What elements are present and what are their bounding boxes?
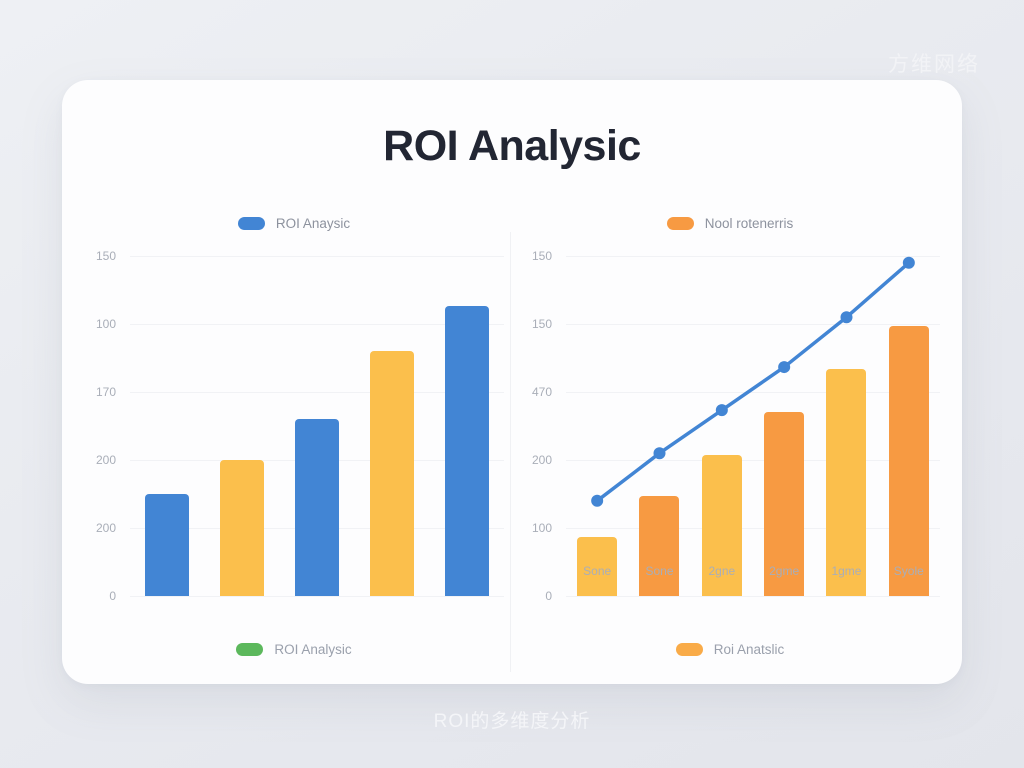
left-legend-bottom-label: ROI Analysic — [274, 642, 351, 657]
trend-marker — [778, 361, 790, 373]
legend-pill-icon — [236, 643, 263, 656]
right-grid-area — [566, 256, 940, 596]
y-axis-tick-label: 200 — [532, 453, 552, 467]
x-axis-tick-label: 1gme — [815, 564, 877, 578]
gridline — [566, 596, 940, 597]
bar — [370, 351, 414, 596]
x-axis-tick-label: 2gme — [753, 564, 815, 578]
right-y-axis: 1501504702001000 — [514, 256, 560, 596]
right-x-axis: SoneSone2gne2gme1gmeSyole — [566, 564, 940, 578]
right-plot-area: 1501504702001000 — [514, 256, 946, 596]
right-legend-top[interactable]: Nool rotenerris — [514, 212, 946, 234]
trend-polyline — [597, 263, 909, 501]
chart-card: ROI Analysic ROI Anaysic 150100170200200… — [62, 80, 962, 684]
right-chart-panel: Nool rotenerris 1501504702001000 SoneSon… — [514, 212, 946, 652]
trend-marker — [716, 404, 728, 416]
panel-divider — [510, 232, 511, 672]
y-axis-tick-label: 100 — [532, 521, 552, 535]
left-grid-area — [130, 256, 504, 596]
right-legend-top-label: Nool rotenerris — [705, 216, 794, 231]
right-trend-line — [566, 256, 940, 596]
y-axis-tick-label: 100 — [96, 317, 116, 331]
legend-pill-icon — [238, 217, 265, 230]
x-axis-tick-label: Syole — [878, 564, 940, 578]
y-axis-tick-label: 470 — [532, 385, 552, 399]
x-axis-tick-label: Sone — [628, 564, 690, 578]
page-caption: ROI的多维度分析 — [0, 706, 1024, 733]
y-axis-tick-label: 200 — [96, 521, 116, 535]
y-axis-tick-label: 150 — [96, 249, 116, 263]
trend-marker — [841, 311, 853, 323]
y-axis-tick-label: 0 — [109, 589, 116, 603]
trend-marker — [903, 257, 915, 269]
x-axis-tick-label: Sone — [566, 564, 628, 578]
y-axis-tick-label: 200 — [96, 453, 116, 467]
y-axis-tick-label: 150 — [532, 317, 552, 331]
bar — [445, 306, 489, 596]
left-legend-top-label: ROI Anaysic — [276, 216, 350, 231]
right-legend-bottom[interactable]: Roi Anatslic — [514, 638, 946, 660]
bar — [295, 419, 339, 596]
legend-pill-icon — [667, 217, 694, 230]
left-plot-area: 1501001702002000 — [78, 256, 510, 596]
left-bar-group — [130, 256, 504, 596]
gridline — [130, 596, 504, 597]
bar — [145, 494, 189, 596]
trend-marker — [654, 447, 666, 459]
left-legend-top[interactable]: ROI Anaysic — [78, 212, 510, 234]
trend-marker — [591, 495, 603, 507]
y-axis-tick-label: 170 — [96, 385, 116, 399]
left-y-axis: 1501001702002000 — [78, 256, 124, 596]
right-legend-bottom-label: Roi Anatslic — [714, 642, 785, 657]
left-legend-bottom[interactable]: ROI Analysic — [78, 638, 510, 660]
page-title: ROI Analysic — [62, 122, 962, 171]
x-axis-tick-label: 2gne — [691, 564, 753, 578]
legend-pill-icon — [676, 643, 703, 656]
y-axis-tick-label: 150 — [532, 249, 552, 263]
y-axis-tick-label: 0 — [545, 589, 552, 603]
watermark: 方维网络 — [888, 48, 980, 78]
bar — [220, 460, 264, 596]
left-chart-panel: ROI Anaysic 1501001702002000 ROI Analysi… — [78, 212, 510, 652]
